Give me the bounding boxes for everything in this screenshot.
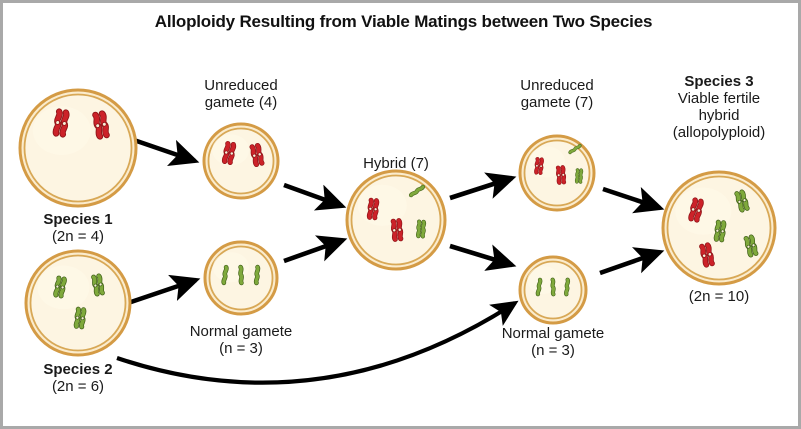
arrow-normalgamete-right-to-species3 [600, 252, 660, 273]
unreduced-gamete-4-label: Unreduced gamete (4) [131, 77, 351, 111]
chromosome-green [75, 309, 85, 327]
species-3-sublabel: Viable fertile hybrid (allopolyploid) [609, 90, 801, 141]
arrow-hybrid-to-unreduced7 [450, 178, 512, 198]
chromosome-red [368, 200, 378, 218]
normal-gamete-b-sublabel: (n = 3) [443, 342, 663, 359]
chromosome-red [535, 159, 543, 173]
chromosome-green [577, 170, 582, 182]
species-1-cell [20, 90, 136, 206]
species-2-label: Species 2(2n = 6) [0, 361, 188, 395]
chromosome-green [552, 280, 554, 295]
chromosome-red [94, 113, 109, 137]
hybrid-cell [347, 171, 445, 269]
arrow-unreduced4-to-hybrid [284, 185, 342, 206]
normal-gamete-right-cell [520, 257, 586, 323]
species-3-cell [663, 172, 775, 284]
normal-gamete-b-label: Normal gamete(n = 3) [443, 325, 663, 359]
hybrid-7-label: Hybrid (7) [286, 155, 506, 172]
normal-gamete-left-cell [205, 242, 277, 314]
chromosome-green [223, 267, 226, 283]
species-3-bottom-label: (2n = 10) [609, 288, 801, 305]
arrow-normalgamete-left-to-hybrid [284, 240, 343, 261]
normal-gamete-a-sublabel: (n = 3) [131, 340, 351, 357]
chromosome-green [538, 280, 541, 295]
species-3-label: Species 3Viable fertile hybrid (allopoly… [609, 73, 801, 141]
chromosome-green [566, 280, 568, 295]
normal-gamete-a-label: Normal gamete(n = 3) [131, 323, 351, 357]
species-2-sublabel: (2n = 6) [0, 378, 188, 395]
species-1-label: Species 1(2n = 4) [0, 211, 188, 245]
unreduced-gamete-7-cell [520, 136, 594, 210]
chromosome-green [92, 276, 104, 295]
arrow-hybrid-to-normalgamete-right [450, 246, 512, 265]
allopolyploidy-diagram: Alloploidy Resulting from Viable Matings… [0, 0, 801, 429]
chromosome-red [54, 111, 68, 134]
arrow-species2-to-normalgamete-left [128, 280, 196, 303]
arrow-unreduced7-to-species3 [603, 189, 660, 208]
species-1-sublabel: (2n = 4) [0, 228, 188, 245]
arrow-species1-to-unreduced4 [128, 138, 195, 161]
species-2-cell [26, 251, 130, 355]
chromosome-green [715, 222, 725, 240]
chromosome-green [256, 267, 258, 283]
chromosome-green [240, 267, 242, 283]
chromosome-green [418, 222, 424, 237]
unreduced-gamete-4-cell [204, 124, 278, 198]
